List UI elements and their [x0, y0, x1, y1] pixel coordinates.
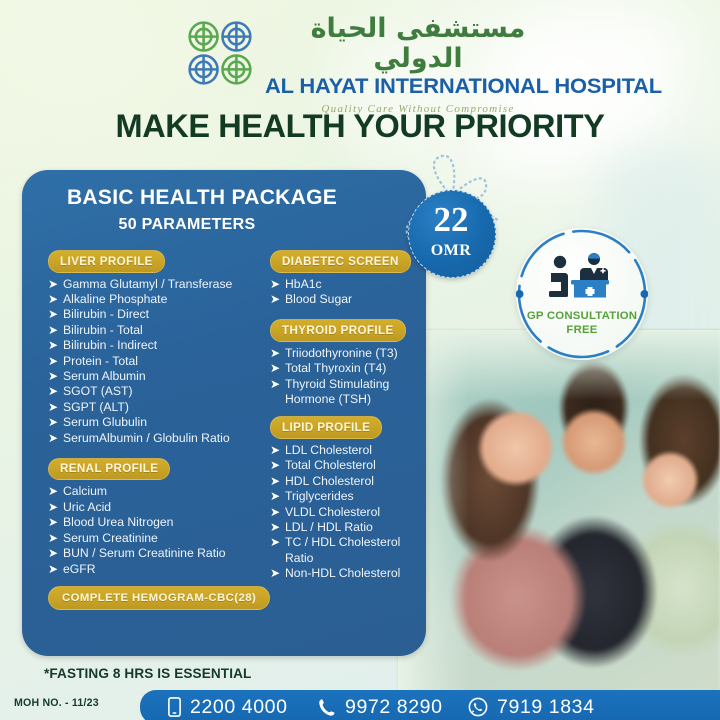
list-item: ➤Gamma Glutamyl / Transferase [48, 277, 266, 292]
list-item-label: eGFR [63, 562, 96, 576]
arrow-bullet-icon: ➤ [48, 386, 59, 397]
list-item-label: Thyroid Stimulating [285, 377, 389, 391]
whatsapp-icon [468, 697, 488, 717]
package-panel: BASIC HEALTH PACKAGE 50 PARAMETERS LIVER… [22, 170, 426, 656]
list-item-label: Serum Glubulin [63, 415, 147, 429]
list-item-label: Total Cholesterol [285, 458, 376, 472]
celtic-knot-logo-icon [176, 12, 264, 94]
list-item: ➤Thyroid Stimulating [270, 377, 440, 392]
section-spacer [48, 446, 266, 458]
section-spacer [270, 307, 440, 319]
price-currency: OMR [408, 242, 494, 260]
package-parameter-count: 50 PARAMETERS [22, 216, 352, 234]
arrow-bullet-icon: ➤ [270, 279, 281, 290]
arrow-bullet-icon: ➤ [48, 309, 59, 320]
list-item: ➤VLDL Cholesterol [270, 505, 440, 520]
list-item: ➤Blood Sugar [270, 292, 440, 307]
left-profile-column: LIVER PROFILE ➤Gamma Glutamyl / Transfer… [48, 250, 266, 577]
arrow-bullet-icon: ➤ [48, 294, 59, 305]
list-item-label: Triiodothyronine (T3) [285, 346, 398, 360]
list-item-label: Blood Sugar [285, 292, 352, 306]
list-item-label: Bilirubin - Total [63, 323, 143, 337]
package-title: BASIC HEALTH PACKAGE [22, 186, 382, 210]
arrow-bullet-icon: ➤ [270, 491, 281, 502]
contact-telephone[interactable]: 9972 8290 [318, 697, 443, 717]
list-item-label: Alkaline Phosphate [63, 292, 167, 306]
gp-badge-text: GP CONSULTATION FREE [516, 310, 648, 337]
price-tag: 22 OMR [390, 150, 520, 280]
price-amount: 22 [408, 202, 494, 238]
arrow-bullet-icon: ➤ [48, 417, 59, 428]
brand-block: مستشفى الحياة الدولي AL HAYAT INTERNATIO… [268, 14, 568, 115]
list-item: ➤LDL / HDL Ratio [270, 520, 440, 535]
section-spacer [270, 407, 440, 416]
right-profile-column: DIABETEC SCREEN ➤HbA1c ➤Blood Sugar THYR… [270, 250, 440, 582]
arrow-bullet-icon: ➤ [270, 476, 281, 487]
list-item-label: VLDL Cholesterol [285, 505, 380, 519]
list-item-label: Gamma Glutamyl / Transferase [63, 277, 232, 291]
contact-telephone-number: 9972 8290 [345, 697, 443, 717]
list-item-label: Hormone (TSH) [285, 392, 371, 406]
section-label-thyroid: THYROID PROFILE [270, 319, 406, 342]
list-item: ➤Uric Acid [48, 500, 266, 515]
list-item: ➤Triiodothyronine (T3) [270, 346, 440, 361]
section-liver-profile: LIVER PROFILE ➤Gamma Glutamyl / Transfer… [48, 250, 266, 446]
list-item: ➤Alkaline Phosphate [48, 292, 266, 307]
list-item: ➤SerumAlbumin / Globulin Ratio [48, 431, 266, 446]
arrow-bullet-icon: ➤ [270, 568, 281, 579]
list-item: ➤SGOT (AST) [48, 384, 266, 399]
arrow-bullet-icon: ➤ [48, 517, 59, 528]
list-item: ➤LDL Cholesterol [270, 443, 440, 458]
list-item-label: Ratio [285, 551, 313, 565]
arrow-bullet-icon: ➤ [270, 522, 281, 533]
list-item-label: Triglycerides [285, 489, 354, 503]
gp-badge-line2: FREE [566, 324, 597, 336]
arrow-bullet-icon: ➤ [48, 564, 59, 575]
list-item-label: Calcium [63, 484, 107, 498]
section-renal-profile: RENAL PROFILE ➤Calcium ➤Uric Acid ➤Blood… [48, 458, 266, 577]
thyroid-profile-list: ➤Triiodothyronine (T3) ➤Total Thyroxin (… [270, 346, 440, 408]
arrow-bullet-icon: ➤ [270, 445, 281, 456]
doctor-consultation-icon [543, 250, 621, 304]
section-label-renal: RENAL PROFILE [48, 458, 170, 481]
list-item: ➤Blood Urea Nitrogen [48, 515, 266, 530]
list-item-label: Bilirubin - Direct [63, 307, 149, 321]
arrow-bullet-icon: ➤ [48, 279, 59, 290]
list-item-label: Serum Creatinine [63, 531, 158, 545]
contact-mobile-number: 2200 4000 [190, 697, 288, 717]
arrow-bullet-icon: ➤ [270, 379, 281, 390]
arrow-bullet-icon: ➤ [48, 402, 59, 413]
brand-name-english: AL HAYAT INTERNATIONAL HOSPITAL [265, 74, 571, 99]
arrow-bullet-icon: ➤ [270, 537, 281, 548]
arrow-bullet-icon: ➤ [270, 507, 281, 518]
list-item: ➤Bilirubin - Direct [48, 307, 266, 322]
list-item-label: LDL Cholesterol [285, 443, 372, 457]
header: مستشفى الحياة الدولي AL HAYAT INTERNATIO… [0, 0, 720, 104]
arrow-bullet-icon: ➤ [270, 460, 281, 471]
arrow-bullet-icon: ➤ [48, 356, 59, 367]
section-thyroid-profile: THYROID PROFILE ➤Triiodothyronine (T3) ➤… [270, 319, 440, 407]
fasting-note: *FASTING 8 HRS IS ESSENTIAL [44, 666, 251, 681]
contact-mobile[interactable]: 2200 4000 [168, 697, 288, 717]
diabetec-screen-list: ➤HbA1c ➤Blood Sugar [270, 277, 440, 308]
section-label-lipid: LIPID PROFILE [270, 416, 382, 439]
page-headline: MAKE HEALTH YOUR PRIORITY [0, 108, 720, 145]
arrow-bullet-icon: ➤ [48, 486, 59, 497]
gp-consultation-badge: GP CONSULTATION FREE [516, 228, 648, 360]
arrow-bullet-icon: ➤ [48, 548, 59, 559]
list-item: ➤Calcium [48, 484, 266, 499]
list-item: ➤Bilirubin - Indirect [48, 338, 266, 353]
list-item: ➤Serum Albumin [48, 369, 266, 384]
list-item-label: Blood Urea Nitrogen [63, 515, 173, 529]
list-item-label: HDL Cholesterol [285, 474, 374, 488]
list-item-label: Total Thyroxin (T4) [285, 361, 386, 375]
telephone-handset-icon [318, 698, 336, 717]
list-item-label: SGOT (AST) [63, 384, 133, 398]
list-item: ➤BUN / Serum Creatinine Ratio [48, 546, 266, 561]
list-item: ➤HDL Cholesterol [270, 474, 440, 489]
list-item: ➤Serum Creatinine [48, 531, 266, 546]
contact-whatsapp[interactable]: 7919 1834 [468, 697, 595, 717]
list-item: ➤Total Thyroxin (T4) [270, 361, 440, 376]
list-item-label: LDL / HDL Ratio [285, 520, 373, 534]
lipid-profile-list: ➤LDL Cholesterol ➤Total Cholesterol ➤HDL… [270, 443, 440, 582]
arrow-bullet-icon: ➤ [48, 433, 59, 444]
list-item-label: BUN / Serum Creatinine Ratio [63, 546, 226, 560]
list-item: ➤TC / HDL Cholesterol [270, 535, 440, 550]
section-label-liver: LIVER PROFILE [48, 250, 165, 273]
arrow-bullet-icon: ➤ [48, 371, 59, 382]
gp-badge-line1: GP CONSULTATION [527, 310, 637, 322]
arrow-bullet-icon: ➤ [48, 533, 59, 544]
arrow-bullet-icon: ➤ [270, 294, 281, 305]
renal-profile-list: ➤Calcium ➤Uric Acid ➤Blood Urea Nitrogen… [48, 484, 266, 576]
list-item-label: TC / HDL Cholesterol [285, 535, 400, 549]
list-item: ➤eGFR [48, 562, 266, 577]
section-lipid-profile: LIPID PROFILE ➤LDL Cholesterol ➤Total Ch… [270, 416, 440, 581]
list-item-label: Bilirubin - Indirect [63, 338, 157, 352]
liver-profile-list: ➤Gamma Glutamyl / Transferase ➤Alkaline … [48, 277, 266, 446]
contact-whatsapp-number: 7919 1834 [497, 697, 595, 717]
list-item-label: Non-HDL Cholesterol [285, 566, 400, 580]
arrow-bullet-icon: ➤ [48, 325, 59, 336]
list-item: ➤Triglycerides [270, 489, 440, 504]
list-item: ➤Protein - Total [48, 354, 266, 369]
moh-number: MOH NO. - 11/23 [14, 697, 99, 709]
list-item-continuation: Hormone (TSH) [270, 392, 440, 407]
brand-name-arabic: مستشفى الحياة الدولي [268, 14, 568, 73]
poster-canvas: مستشفى الحياة الدولي AL HAYAT INTERNATIO… [0, 0, 720, 720]
arrow-bullet-icon: ➤ [270, 348, 281, 359]
section-label-hemogram: COMPLETE HEMOGRAM-CBC(28) [48, 586, 270, 610]
list-item: ➤Total Cholesterol [270, 458, 440, 473]
list-item: ➤Non-HDL Cholesterol [270, 566, 440, 581]
list-item-label: Serum Albumin [63, 369, 146, 383]
arrow-bullet-icon: ➤ [270, 363, 281, 374]
arrow-bullet-icon: ➤ [48, 502, 59, 513]
list-item-label: Uric Acid [63, 500, 111, 514]
list-item-continuation: Ratio [270, 551, 440, 566]
list-item: ➤Serum Glubulin [48, 415, 266, 430]
list-item-label: SGPT (ALT) [63, 400, 129, 414]
mobile-phone-icon [168, 697, 181, 717]
arrow-bullet-icon: ➤ [48, 340, 59, 351]
list-item-label: HbA1c [285, 277, 322, 291]
list-item: ➤Bilirubin - Total [48, 323, 266, 338]
list-item: ➤SGPT (ALT) [48, 400, 266, 415]
list-item-label: SerumAlbumin / Globulin Ratio [63, 431, 230, 445]
list-item-label: Protein - Total [63, 354, 138, 368]
hemogram-banner: COMPLETE HEMOGRAM-CBC(28) [48, 586, 270, 614]
